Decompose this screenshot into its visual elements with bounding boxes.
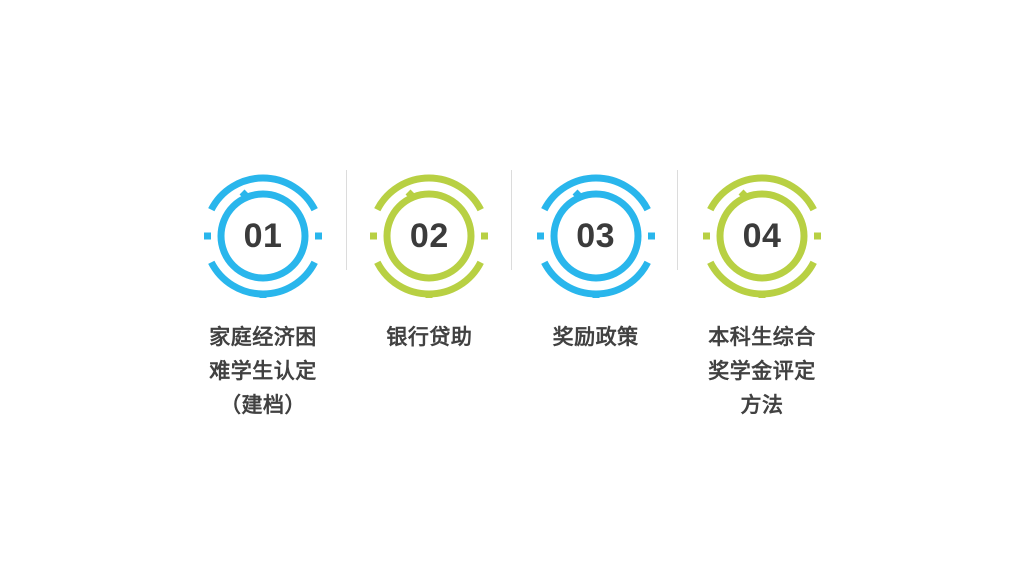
column-divider-1	[346, 170, 347, 270]
step-item-02[interactable]: 02 银行贷助	[346, 170, 512, 354]
step-label-04: 本科生综合 奖学金评定 方法	[686, 320, 838, 422]
column-divider-2	[511, 170, 512, 270]
step-item-03[interactable]: 03 奖励政策	[513, 170, 679, 354]
slide-canvas: 01 家庭经济困 难学生认定 （建档）	[0, 0, 1024, 561]
step-item-01[interactable]: 01 家庭经济困 难学生认定 （建档）	[180, 170, 346, 422]
step-label-01: 家庭经济困 难学生认定 （建档）	[187, 320, 339, 422]
step-number-01: 01	[197, 170, 329, 302]
step-badge-02: 02	[363, 170, 495, 302]
step-badge-03: 03	[530, 170, 662, 302]
step-label-02: 银行贷助	[353, 320, 505, 354]
step-number-03: 03	[530, 170, 662, 302]
step-label-03: 奖励政策	[520, 320, 672, 354]
step-number-04: 04	[696, 170, 828, 302]
column-divider-3	[677, 170, 678, 270]
step-badge-01: 01	[197, 170, 329, 302]
step-number-02: 02	[363, 170, 495, 302]
step-item-04[interactable]: 04 本科生综合 奖学金评定 方法	[679, 170, 845, 422]
steps-row: 01 家庭经济困 难学生认定 （建档）	[180, 170, 845, 460]
step-badge-04: 04	[696, 170, 828, 302]
